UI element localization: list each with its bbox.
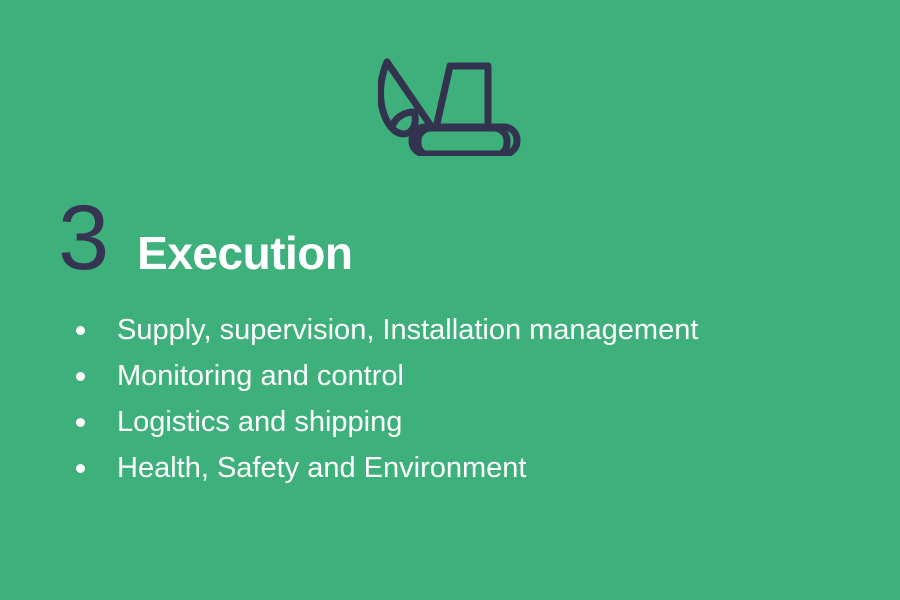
page-title: 3 Execution <box>58 192 353 284</box>
step-number: 3 <box>58 192 109 284</box>
list-item: Monitoring and control <box>76 358 698 404</box>
excavator-icon <box>378 52 526 156</box>
excavator-icon-graphic <box>378 52 526 156</box>
list-item-label: Health, Safety and Environment <box>117 450 526 486</box>
heading-title: Execution <box>137 230 352 276</box>
list-item: Supply, supervision, Installation manage… <box>76 312 698 358</box>
list-item: Health, Safety and Environment <box>76 450 698 496</box>
bullet-dot-icon <box>76 326 85 335</box>
bullet-dot-icon <box>76 464 85 473</box>
cab-outline <box>436 66 488 128</box>
bullet-dot-icon <box>76 418 85 427</box>
list-item-label: Logistics and shipping <box>117 404 402 440</box>
slide-canvas: 3 Execution Supply, supervision, Install… <box>0 0 900 600</box>
bullet-dot-icon <box>76 372 85 381</box>
boom-arm <box>387 62 431 126</box>
bullet-list: Supply, supervision, Installation manage… <box>76 312 698 496</box>
list-item: Logistics and shipping <box>76 404 698 450</box>
list-item-label: Supply, supervision, Installation manage… <box>117 312 698 348</box>
list-item-label: Monitoring and control <box>117 358 404 394</box>
